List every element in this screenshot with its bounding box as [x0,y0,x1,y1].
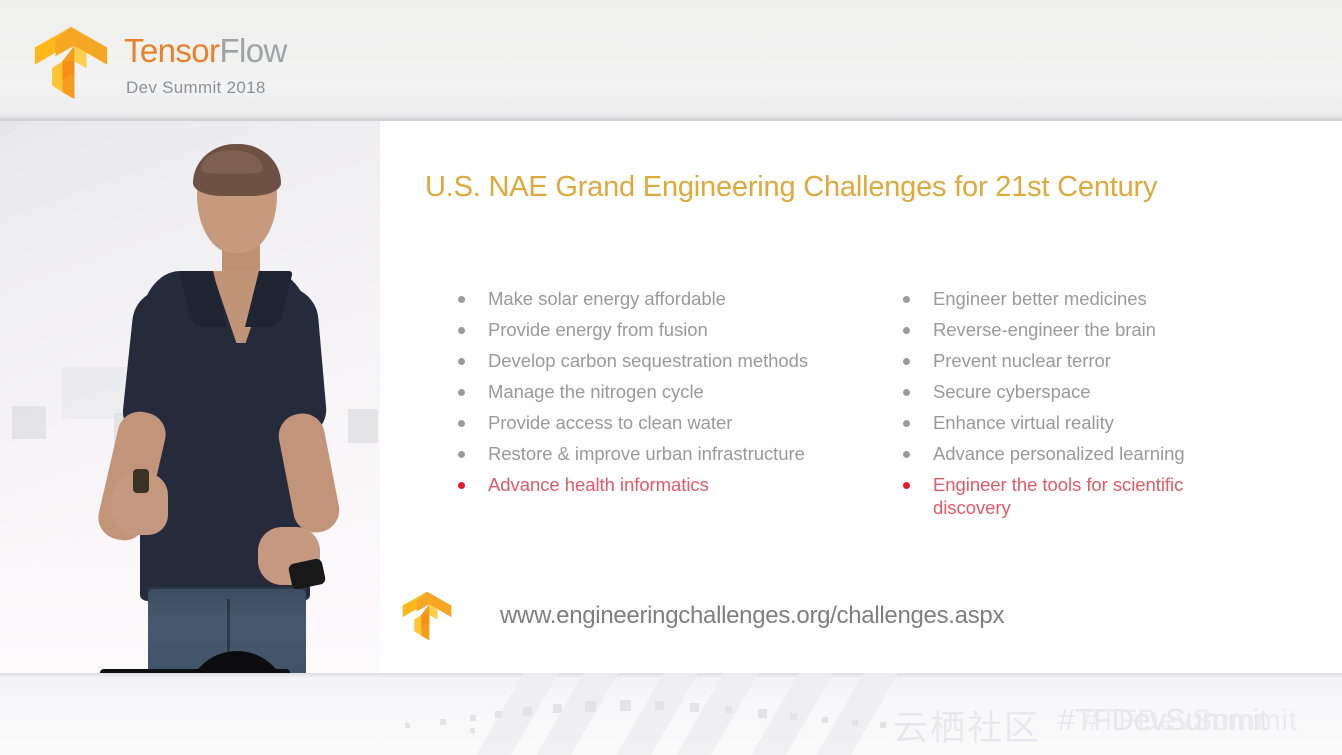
footer-dot [790,713,797,720]
bullet-column-left: Make solar energy affordable Provide ene… [458,287,858,504]
footer-dot [470,715,476,721]
footer-dot [880,722,886,728]
list-item: Prevent nuclear terror [903,349,1233,372]
footer-dot [470,728,475,733]
bullet-dot-icon [903,451,910,458]
bullet-label: Enhance virtual reality [933,411,1114,434]
tensorflow-logo-icon [398,587,456,645]
bullet-dot-icon [903,389,910,396]
footer-dot [620,700,631,711]
bullet-label: Secure cyberspace [933,380,1091,403]
bullet-dot-icon [458,296,465,303]
bullet-dot-icon [903,482,910,489]
watermark-chinese: 云栖社区 [893,700,1041,751]
footer-dot [553,704,562,713]
list-item: Provide access to clean water [458,411,858,434]
bullet-label: Provide access to clean water [488,411,732,434]
bullet-label: Restore & improve urban infrastructure [488,442,805,465]
list-item: Make solar energy affordable [458,287,858,310]
list-item: Develop carbon sequestration methods [458,349,858,372]
reference-url[interactable]: www.engineeringchallenges.org/challenges… [500,602,1004,630]
list-item: Restore & improve urban infrastructure [458,442,858,465]
presenter-hair [193,144,281,196]
list-item: Secure cyberspace [903,380,1233,403]
tensorflow-logo-icon [27,20,115,106]
bullet-dot-icon [458,451,465,458]
bullet-label: Make solar energy affordable [488,287,726,310]
presenter-figure [0,121,380,673]
footer-dot [852,720,858,726]
bullet-dot-icon [903,296,910,303]
list-item: Manage the nitrogen cycle [458,380,858,403]
bullet-dot-icon [458,389,465,396]
list-item: Reverse-engineer the brain [903,318,1233,341]
footer-dot [822,717,828,723]
bullet-label: Reverse-engineer the brain [933,318,1156,341]
footer-dot [585,701,596,712]
bullet-label: Advance health informatics [488,473,709,496]
wristwatch [288,558,327,591]
list-item-highlighted: Engineer the tools for scientific discov… [903,473,1233,519]
wordmark-tensor: Tensor [124,32,219,69]
bullet-dot-icon [458,482,465,489]
bullet-dot-icon [903,327,910,334]
list-item: Advance personalized learning [903,442,1233,465]
app-header: TensorFlow Dev Summit 2018 [0,0,1342,121]
bullet-dot-icon [903,358,910,365]
footer-dot [440,719,446,725]
presenter-video-panel [0,121,380,673]
bullet-dot-icon [903,420,910,427]
list-item: Engineer better medicines [903,287,1233,310]
bullet-label: Manage the nitrogen cycle [488,380,704,403]
bullet-label: Prevent nuclear terror [933,349,1111,372]
bullet-dot-icon [458,420,465,427]
footer-dot [523,707,532,716]
bullet-label: Provide energy from fusion [488,318,708,341]
slide-url-row: www.engineeringchallenges.org/challenges… [398,587,1004,645]
list-item: Provide energy from fusion [458,318,858,341]
bullet-column-right: Engineer better medicines Reverse-engine… [903,287,1233,527]
slide-panel: U.S. NAE Grand Engineering Challenges fo… [380,121,1342,673]
bullet-label: Engineer the tools for scientific discov… [933,473,1233,519]
footer-dot [758,709,767,718]
footer-dot [690,703,699,712]
bullet-label: Advance personalized learning [933,442,1185,465]
brand-wordmark: TensorFlow [124,32,287,70]
presentation-clicker [133,469,149,493]
footer-dot [655,701,664,710]
bullet-dot-icon [458,358,465,365]
slide-title: U.S. NAE Grand Engineering Challenges fo… [425,171,1157,204]
bullet-label: Engineer better medicines [933,287,1147,310]
bullet-dot-icon [458,327,465,334]
footer-dot [405,723,410,728]
wordmark-flow: Flow [219,32,286,69]
list-item-highlighted: Advance health informatics [458,473,858,496]
list-item: Enhance virtual reality [903,411,1233,434]
bullet-label: Develop carbon sequestration methods [488,349,808,372]
event-subtitle: Dev Summit 2018 [126,78,266,98]
footer-dot [725,706,732,713]
footer-dot [495,711,502,718]
watermark-hashtag-overlay: #TFDevSummit [1082,704,1298,738]
